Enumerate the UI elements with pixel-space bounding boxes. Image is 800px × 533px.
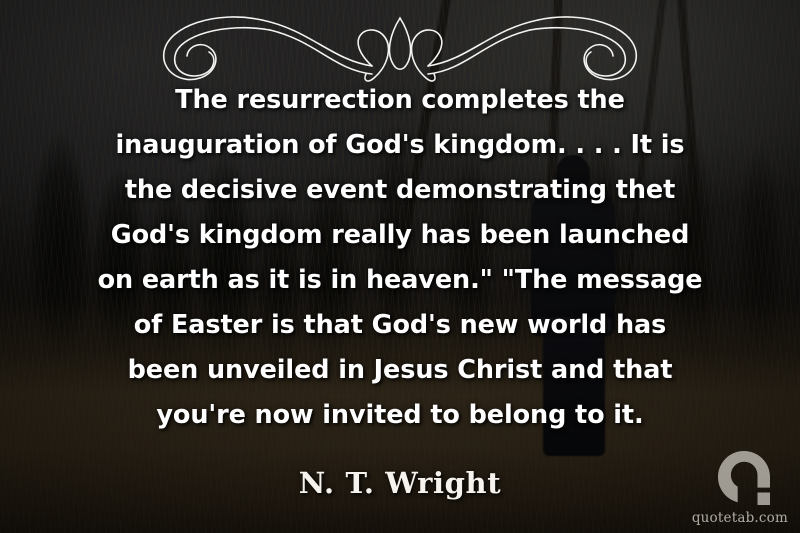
- decorative-flourish-icon: [120, 4, 680, 88]
- quote-line: God's kingdom really has been launched: [0, 213, 800, 258]
- quote-author: N. T. Wright: [0, 466, 800, 500]
- quote-line: inauguration of God's kingdom. . . . It …: [0, 123, 800, 168]
- quote-text: The resurrection completes the inaugurat…: [0, 78, 800, 438]
- quote-line: of Easter is that God's new world has: [0, 303, 800, 348]
- watermark: quotetab.com: [686, 451, 792, 529]
- quote-line: The resurrection completes the: [0, 78, 800, 123]
- quote-line: the decisive event demonstrating thet: [0, 168, 800, 213]
- quote-line: been unveiled in Jesus Christ and that: [0, 348, 800, 393]
- quote-image-card: The resurrection completes the inaugurat…: [0, 0, 800, 533]
- quotetab-q-logo-icon: [718, 451, 770, 505]
- quote-line: on earth as it is in heaven." "The messa…: [0, 258, 800, 303]
- quote-line: you're now invited to belong to it.: [0, 393, 800, 438]
- watermark-site-label: quotetab.com: [692, 510, 788, 526]
